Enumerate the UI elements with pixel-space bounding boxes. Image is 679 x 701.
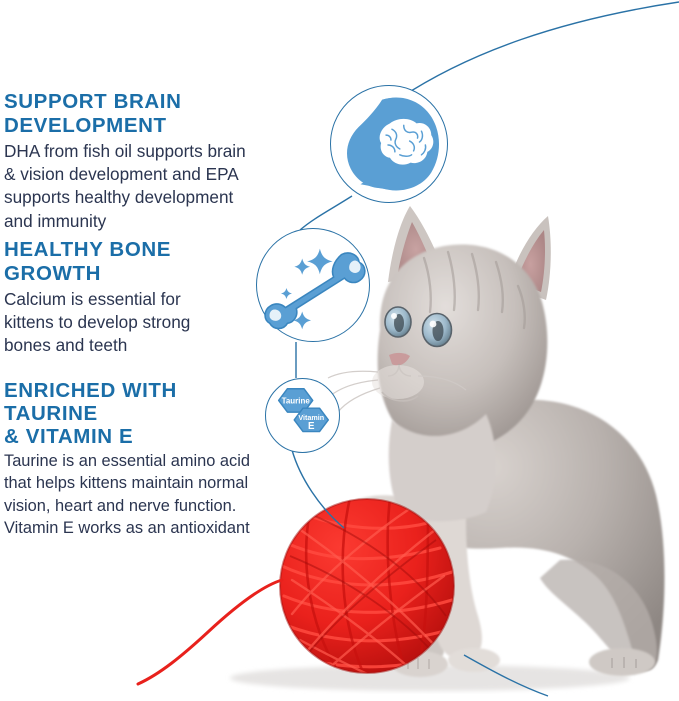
taurine-label: Taurine <box>282 396 311 405</box>
taurine-vitamin-e-hexagons-icon: Taurine Vitamin E <box>265 378 340 453</box>
feature-taurine-vitamin-e: ENRICHED WITH TAURINE & VITAMIN E Taurin… <box>4 379 260 540</box>
cat-head-brain-icon <box>330 85 448 203</box>
feature-taurine-title: ENRICHED WITH TAURINE & VITAMIN E <box>4 379 260 448</box>
feature-bone-title: HEALTHY BONE GROWTH <box>4 238 262 286</box>
feature-bone-body: Calcium is essential for kittens to deve… <box>4 288 262 358</box>
bone-sparkle-icon <box>256 228 370 342</box>
yarn-thread <box>138 580 282 684</box>
feature-brain-body: DHA from fish oil supports brain & visio… <box>4 140 334 233</box>
feature-brain-development: SUPPORT BRAIN DEVELOPMENT DHA from fish … <box>4 90 334 233</box>
feature-bone-growth: HEALTHY BONE GROWTH Calcium is essential… <box>4 238 262 358</box>
cat-head-brain-glyph <box>331 86 447 202</box>
infographic-canvas: Taurine Vitamin E SUPPORT BRAIN DEVELOPM… <box>0 0 679 701</box>
vitamin-label-line2: E <box>308 421 315 432</box>
feature-taurine-body: Taurine is an essential amino acid that … <box>4 450 260 540</box>
feature-brain-title: SUPPORT BRAIN DEVELOPMENT <box>4 90 334 138</box>
bone-sparkle-glyph <box>257 229 369 341</box>
hexagon-pair-glyph: Taurine Vitamin E <box>266 379 339 452</box>
